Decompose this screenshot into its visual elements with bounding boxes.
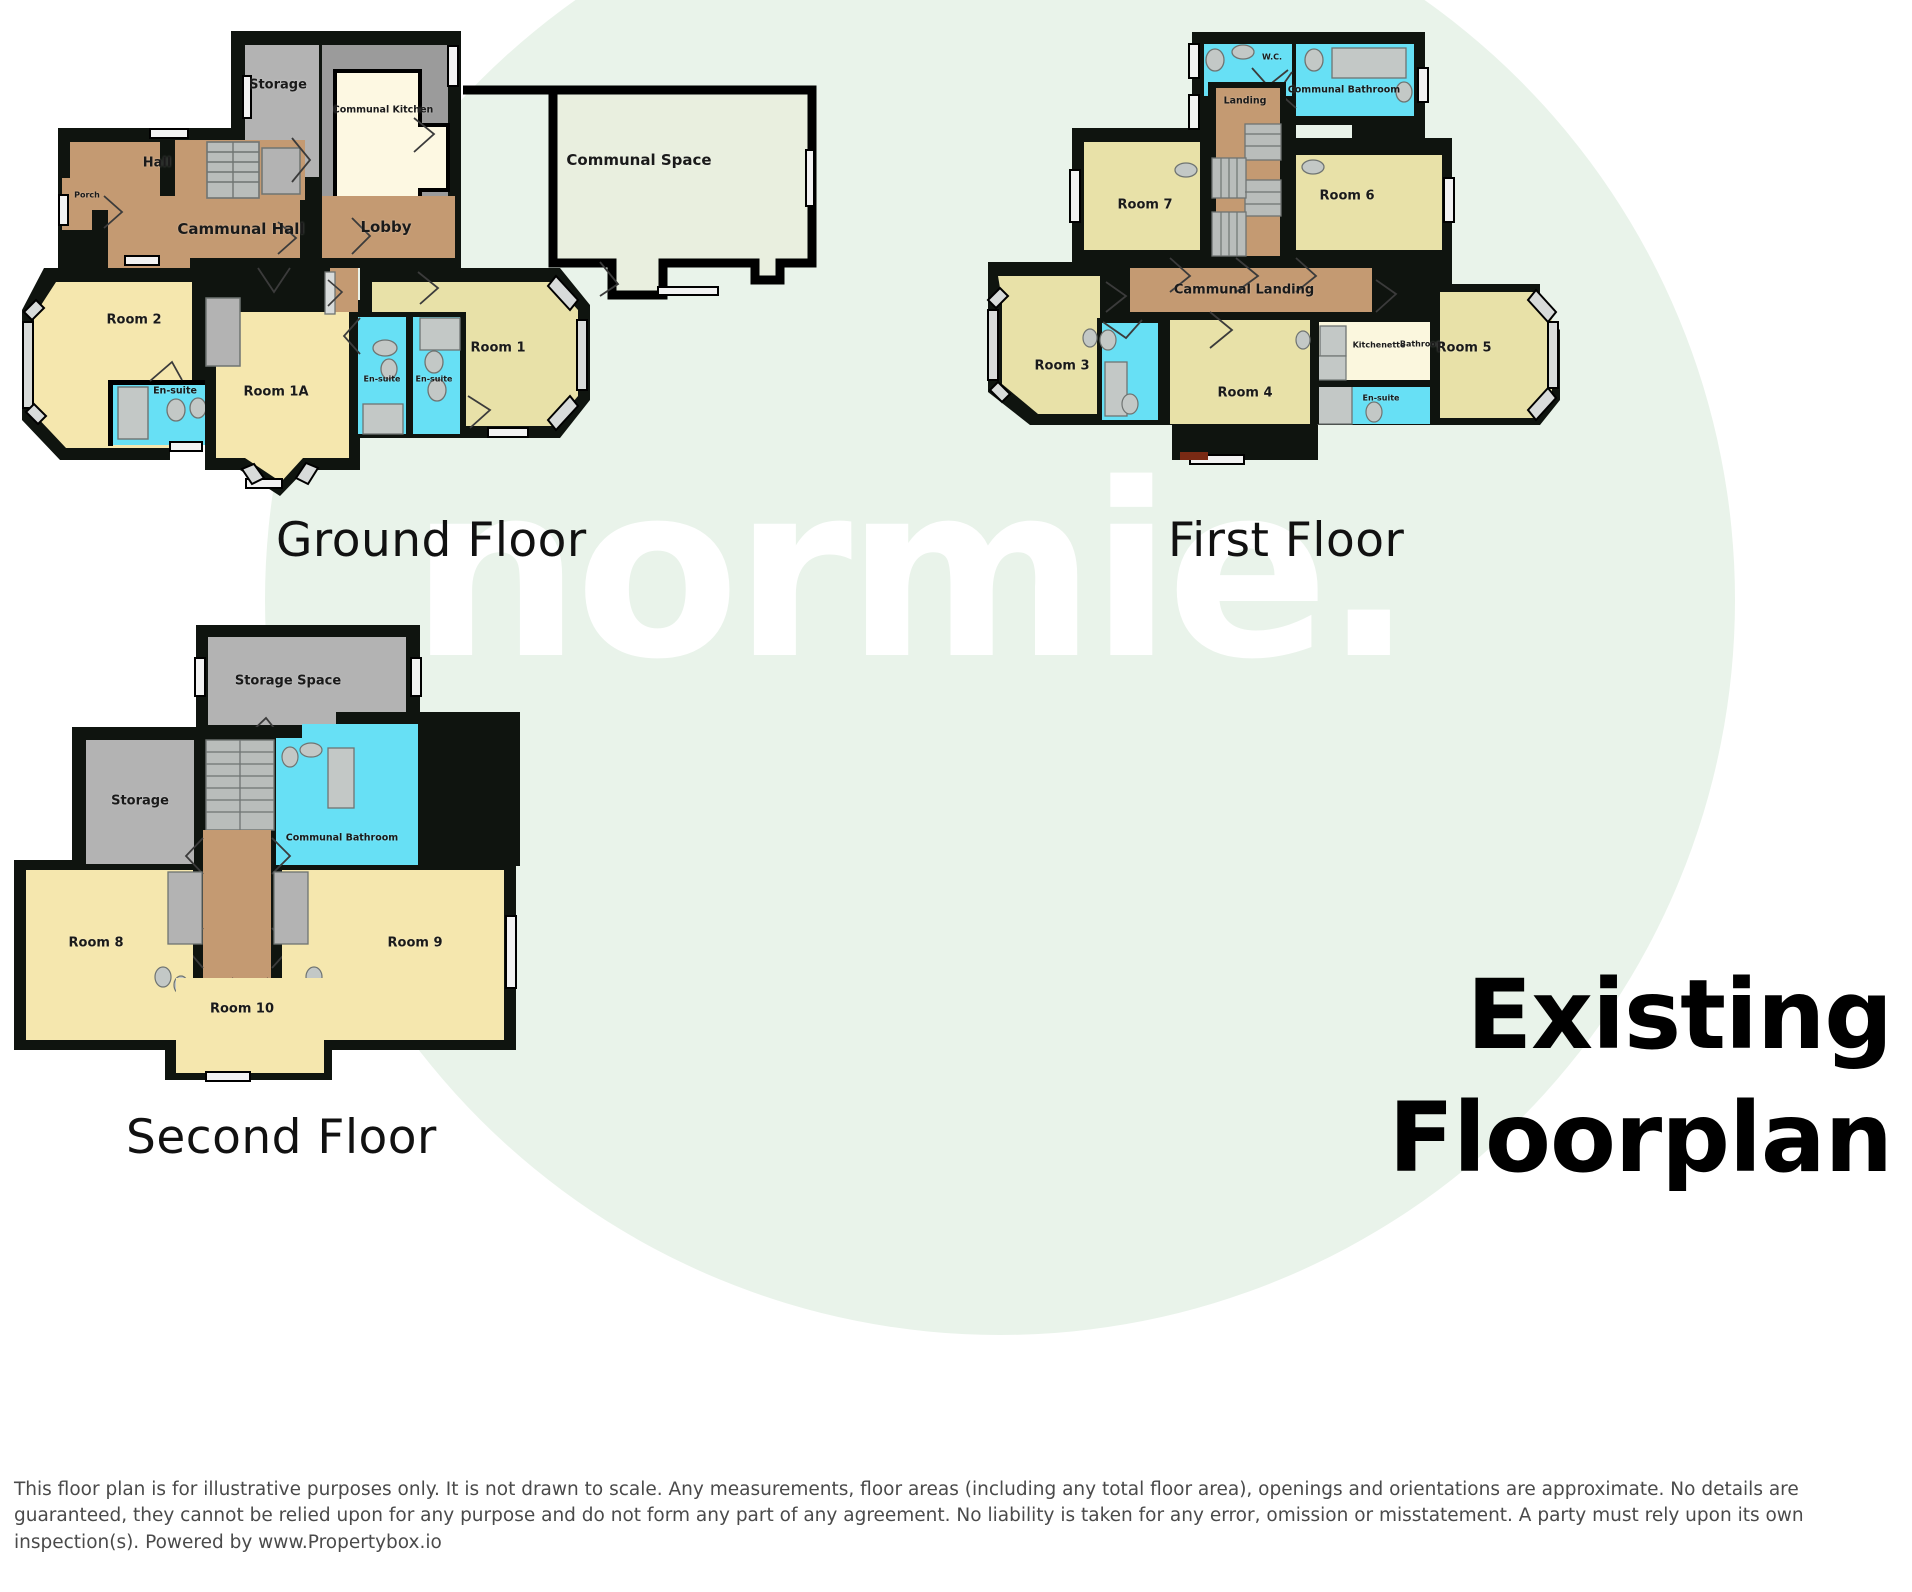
room-label: Kitchenette: [1353, 341, 1406, 350]
room-label: Room 5: [1437, 341, 1492, 356]
room-label: Room 9: [388, 936, 443, 951]
room-label: W.C.: [1262, 53, 1282, 62]
room-label: Room 4: [1218, 386, 1273, 401]
room-label: Room 3: [1035, 359, 1090, 374]
room-label: En-suite: [1363, 394, 1400, 403]
room-label: Storage Space: [235, 674, 341, 689]
room-label: Landing: [1224, 96, 1267, 107]
room-label: Communal Bathroom: [1288, 85, 1400, 96]
room-label: Porch: [74, 191, 100, 200]
second-hall-fill: [203, 830, 271, 978]
room-label: Room 2: [107, 313, 162, 328]
room-label: Room 10: [210, 1002, 274, 1017]
second-floor-plan: [0, 0, 1912, 1592]
room-label: En-suite: [364, 375, 401, 384]
second-room10-fill: [176, 978, 324, 1073]
room-label: Storage: [111, 794, 169, 809]
room-label: Cammunal Landing: [1174, 283, 1314, 298]
floor-title-ground: Ground Floor: [276, 513, 587, 568]
room-label: Cammunal Hall: [177, 220, 304, 238]
floor-title-second: Second Floor: [126, 1110, 437, 1165]
room-label: Storage: [249, 78, 307, 93]
room-label: Communal Space: [566, 151, 711, 169]
page-title-line-2: Floorplan: [1389, 1090, 1892, 1186]
second-bath-tub: [328, 748, 354, 808]
room-label: Room 1A: [243, 385, 308, 400]
room-label: Communal Bathroom: [286, 833, 398, 844]
room-label: En-suite: [153, 386, 197, 397]
disclaimer-text: This floor plan is for illustrative purp…: [14, 1477, 1904, 1556]
room-label: Room 1: [471, 341, 526, 356]
floor-title-first: First Floor: [1168, 513, 1404, 568]
page-title-line-1: Existing: [1467, 967, 1892, 1063]
room-label: Hall: [143, 156, 172, 171]
room-label: Room 8: [69, 936, 124, 951]
room-label: Lobby: [360, 218, 411, 236]
room-label: Room 7: [1118, 198, 1173, 213]
room-label: En-suite: [416, 375, 453, 384]
room-label: Communal Kitchen: [333, 105, 434, 116]
floorplan-canvas: normie.: [0, 0, 1912, 1592]
room-label: Room 6: [1320, 189, 1375, 204]
